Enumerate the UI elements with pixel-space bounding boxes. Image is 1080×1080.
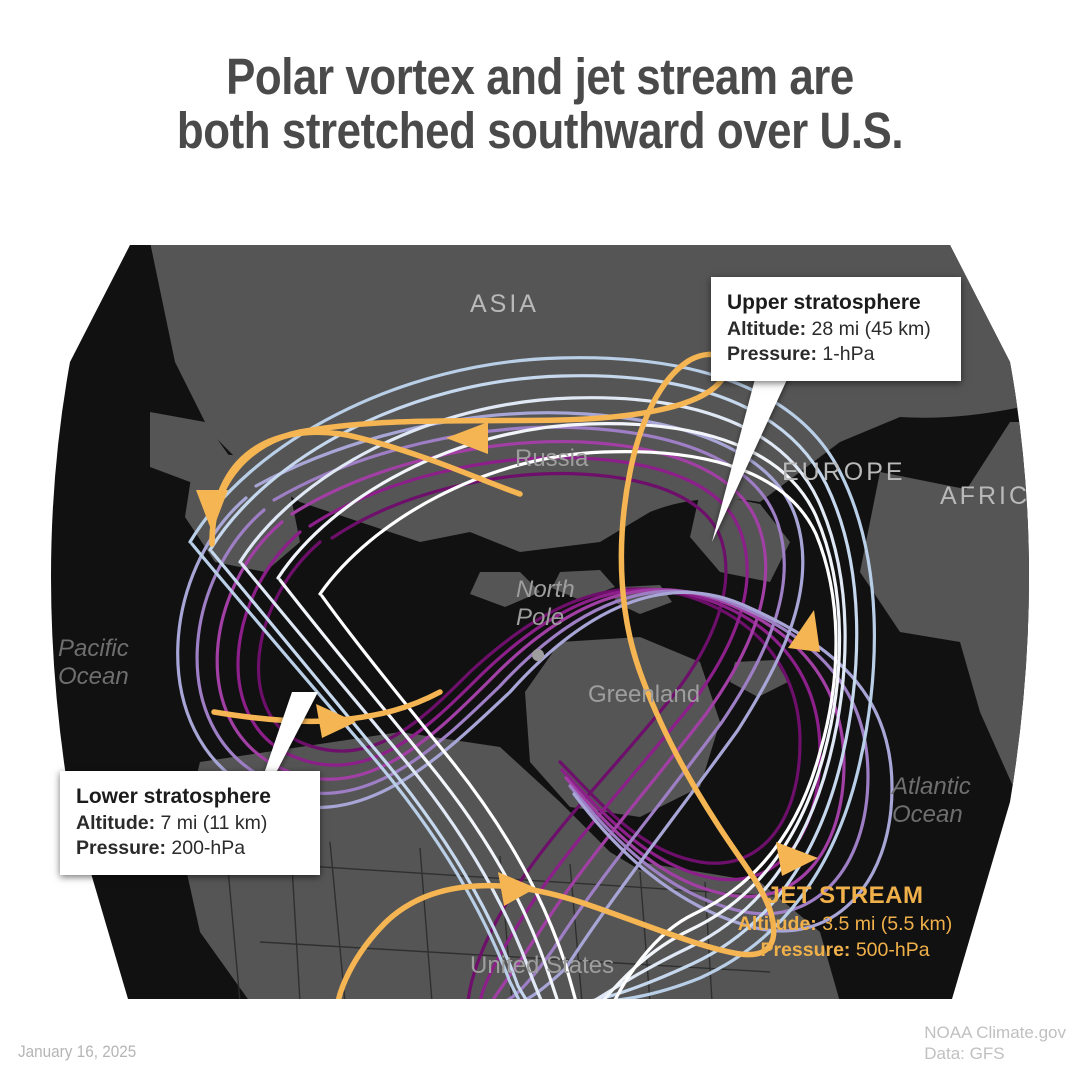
label-africa: AFRICA [940, 482, 1050, 510]
callout-lower-altitude-label: Altitude: [76, 812, 155, 834]
callout-lower-altitude-value: 7 mi (11 km) [161, 812, 268, 834]
label-north-pole-2: Pole [516, 604, 564, 631]
callout-upper-pressure-label: Pressure: [727, 343, 817, 365]
label-north-pole-1: North [516, 576, 575, 603]
callout-upper-stratosphere: Upper stratosphere Altitude: 28 mi (45 k… [711, 277, 961, 381]
jet-stream-heading: JET STREAM [713, 881, 977, 911]
jet-stream-altitude: Altitude: 3.5 mi (5.5 km) [713, 911, 977, 937]
callout-lower-stratosphere: Lower stratosphere Altitude: 7 mi (11 km… [60, 771, 320, 875]
label-pacific-1: Pacific [58, 635, 129, 662]
callout-upper-pressure: Pressure: 1-hPa [727, 342, 945, 367]
jet-stream-pressure-label: Pressure: [760, 939, 850, 961]
label-russia: Russia [515, 445, 589, 472]
north-pole-marker [532, 649, 544, 661]
title-line-1: Polar vortex and jet stream are [76, 50, 1005, 104]
callout-upper-heading: Upper stratosphere [727, 289, 945, 317]
footer-credit-line-1: NOAA Climate.gov [924, 1022, 1066, 1043]
infographic-root: Polar vortex and jet stream are both str… [0, 0, 1080, 1080]
label-atlantic-1: Atlantic [890, 773, 971, 800]
page-title: Polar vortex and jet stream are both str… [76, 50, 1005, 158]
title-line-2: both stretched southward over U.S. [76, 104, 1005, 158]
callout-lower-pressure-value: 200-hPa [171, 837, 245, 859]
jet-stream-label: JET STREAM Altitude: 3.5 mi (5.5 km) Pre… [713, 881, 977, 963]
footer-credit: NOAA Climate.gov Data: GFS [924, 1022, 1066, 1064]
footer-date: January 16, 2025 [18, 1042, 136, 1062]
callout-upper-altitude-value: 28 mi (45 km) [812, 318, 931, 340]
label-europe: EUROPE [782, 458, 906, 486]
label-united-states: United States [470, 952, 614, 979]
footer-credit-line-2: Data: GFS [924, 1043, 1066, 1064]
callout-upper-pressure-value: 1-hPa [822, 343, 874, 365]
callout-upper-altitude-label: Altitude: [727, 318, 806, 340]
callout-lower-heading: Lower stratosphere [76, 783, 304, 811]
callout-upper-altitude: Altitude: 28 mi (45 km) [727, 317, 945, 342]
label-atlantic-2: Ocean [892, 801, 963, 828]
label-greenland: Greenland [588, 681, 700, 708]
label-pacific-2: Ocean [58, 663, 129, 690]
jet-stream-pressure-value: 500-hPa [856, 939, 930, 961]
callout-lower-pressure-label: Pressure: [76, 837, 166, 859]
jet-stream-pressure: Pressure: 500-hPa [713, 937, 977, 963]
jet-stream-altitude-value: 3.5 mi (5.5 km) [822, 913, 952, 935]
jet-stream-altitude-label: Altitude: [738, 913, 817, 935]
callout-lower-pressure: Pressure: 200-hPa [76, 836, 304, 861]
callout-lower-altitude: Altitude: 7 mi (11 km) [76, 811, 304, 836]
label-asia: ASIA [470, 290, 539, 318]
